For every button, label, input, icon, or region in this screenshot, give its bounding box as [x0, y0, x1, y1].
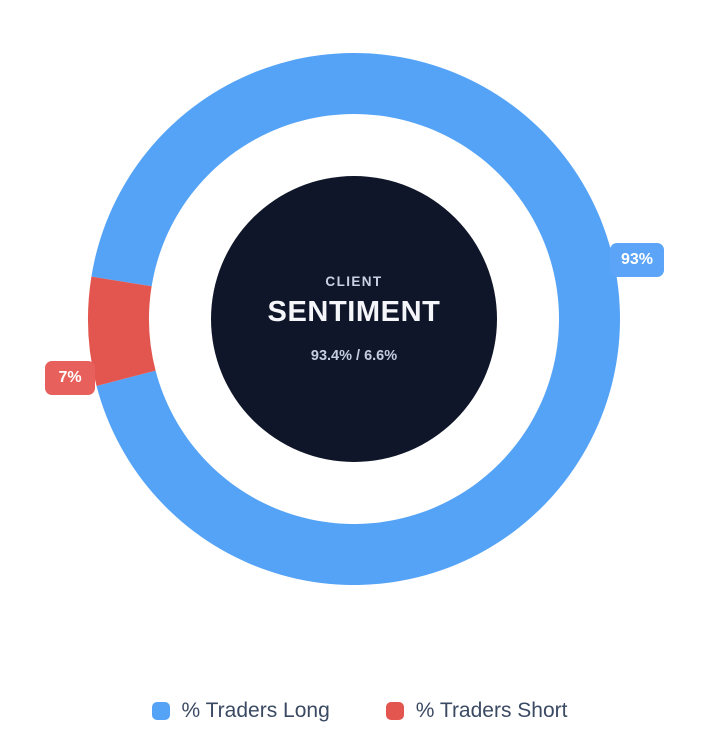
client-sentiment-widget: CLIENT SENTIMENT 93.4% / 6.6% 93% 7% % T… — [0, 0, 719, 754]
legend-swatch-short-icon — [386, 702, 404, 720]
callout-badge-short[interactable]: 7% — [45, 361, 95, 395]
legend-label-traders-long: % Traders Long — [182, 700, 330, 721]
chart-legend: % Traders Long % Traders Short — [0, 700, 719, 721]
legend-swatch-long-icon — [152, 702, 170, 720]
legend-item-traders-short[interactable]: % Traders Short — [386, 700, 568, 721]
donut-svg — [0, 0, 719, 690]
legend-item-traders-long[interactable]: % Traders Long — [152, 700, 330, 721]
sentiment-hub-circle — [211, 176, 497, 462]
sentiment-donut-chart: CLIENT SENTIMENT 93.4% / 6.6% 93% 7% — [0, 0, 719, 690]
legend-label-traders-short: % Traders Short — [416, 700, 568, 721]
callout-badge-long[interactable]: 93% — [610, 243, 664, 277]
donut-segment-traders-short[interactable] — [88, 277, 156, 386]
